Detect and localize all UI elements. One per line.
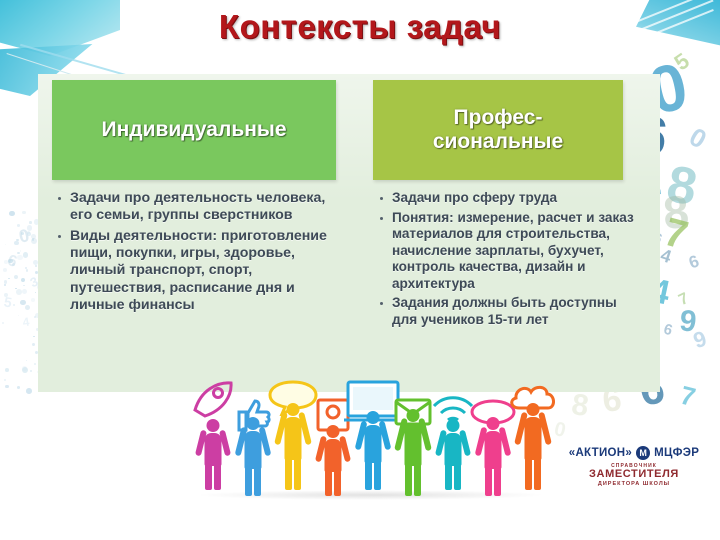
column-header-professional-label: Профес-сиональные (433, 106, 563, 154)
person-torso (205, 433, 222, 467)
person-head (207, 419, 220, 432)
background-fleck (4, 379, 6, 381)
column-individual: Задачи про деятельность человека, его се… (56, 190, 346, 317)
background-number: 4 (22, 316, 30, 329)
background-number: 0 (685, 123, 711, 153)
background-number: 5 (671, 49, 694, 74)
person-leg-left (445, 464, 452, 490)
person-figure (354, 380, 392, 490)
background-fleck (33, 336, 35, 338)
background-fleck (22, 289, 27, 294)
background-fleck (26, 269, 28, 271)
background-number: 5 (3, 294, 13, 309)
person-leg-left (205, 464, 212, 490)
person-leg-right (334, 470, 341, 496)
person-leg-right (534, 457, 541, 490)
person-figure (434, 380, 472, 490)
background-number: 7 (678, 382, 698, 411)
person-torso (405, 423, 422, 466)
background-fleck (4, 280, 8, 284)
background-fleck (5, 385, 8, 388)
person-figure (234, 386, 272, 496)
people-illustration (190, 378, 550, 498)
background-fleck (4, 260, 7, 263)
background-fleck (35, 265, 37, 267)
background-fleck (32, 343, 35, 346)
person-figure (194, 380, 232, 490)
background-fleck (5, 244, 6, 245)
background-number: 0 (552, 419, 567, 441)
background-fleck (21, 278, 25, 282)
background-fleck (18, 315, 19, 316)
person-leg-left (245, 467, 252, 496)
column-header-professional: Профес-сиональные (373, 80, 623, 180)
background-fleck (16, 289, 22, 295)
background-fleck (26, 360, 27, 361)
background-number: 9 (691, 328, 709, 353)
bullet-list-individual: Задачи про деятельность человека, его се… (56, 190, 346, 314)
person-figure (514, 380, 552, 490)
logo-brand-mcfer: МЦФЭР (654, 447, 699, 459)
person-torso (325, 439, 342, 473)
background-fleck (20, 250, 22, 252)
background-fleck (8, 259, 13, 264)
background-fleck (23, 285, 25, 287)
background-fleck (2, 322, 4, 324)
background-number: 6 (5, 253, 18, 271)
background-fleck (20, 302, 22, 304)
background-fleck (8, 278, 9, 279)
background-fleck (35, 292, 36, 293)
background-fleck (21, 232, 25, 236)
logo-subtitle-line2: ЗАМЕСТИТЕЛЯ (556, 469, 712, 481)
person-leg-right (214, 464, 221, 490)
background-number: 9 (678, 306, 698, 338)
person-leg-right (494, 467, 501, 496)
background-fleck (15, 288, 16, 289)
background-fleck (17, 386, 20, 389)
person-head (447, 419, 460, 432)
bullet-item: Понятия: измерение, расчет и заказ матер… (378, 210, 640, 293)
person-leg-right (374, 461, 381, 490)
publisher-logo: «АКТИОН» М МЦФЭР СПРАВОЧНИК ЗАМЕСТИТЕЛЯ … (556, 446, 712, 487)
background-number: 7 (677, 291, 692, 309)
background-fleck (3, 268, 7, 272)
person-figure (394, 386, 432, 496)
logo-mark-icon: М (636, 446, 650, 460)
column-header-individual-label: Индивидуальные (101, 118, 286, 142)
background-fleck (13, 304, 16, 307)
background-fleck (17, 255, 22, 260)
person-torso (365, 425, 382, 463)
background-fleck (26, 388, 32, 394)
background-number: 7 (660, 212, 692, 256)
background-fleck (22, 211, 25, 214)
bullet-item: Задачи про сферу труда (378, 190, 640, 207)
person-torso (525, 417, 542, 460)
person-leg-left (285, 457, 292, 490)
background-fleck (31, 298, 35, 302)
person-head (367, 411, 380, 424)
person-leg-left (405, 463, 412, 496)
background-fleck (34, 316, 36, 318)
background-fleck (34, 363, 36, 365)
background-fleck (27, 225, 32, 230)
background-number: 6 (662, 322, 674, 339)
background-fleck (31, 238, 37, 244)
background-fleck (30, 370, 32, 372)
person-leg-left (325, 470, 332, 496)
person-leg-right (254, 467, 261, 496)
person-head (327, 425, 340, 438)
person-leg-right (454, 464, 461, 490)
background-number: 4 (658, 246, 673, 266)
background-number: 8 (570, 390, 591, 422)
person-torso (285, 417, 302, 460)
background-fleck (4, 284, 5, 285)
bullet-list-professional: Задачи про сферу трудаПонятия: измерение… (378, 190, 640, 329)
slide-canvas: 530660288664676479667906354860 Контексты… (0, 0, 720, 540)
background-number: 8 (663, 158, 701, 214)
person-head (487, 417, 500, 430)
person-leg-left (485, 467, 492, 496)
person-head (247, 417, 260, 430)
background-fleck (22, 367, 28, 373)
background-fleck (16, 239, 19, 242)
page-title: Контексты задач (0, 8, 720, 46)
person-torso (485, 431, 502, 469)
person-leg-left (525, 457, 532, 490)
background-fleck (29, 221, 32, 224)
background-fleck (12, 263, 15, 266)
bullet-item: Виды деятельности: приготовление пищи, п… (56, 228, 346, 315)
background-number: 0 (17, 226, 31, 246)
background-fleck (27, 231, 30, 234)
background-fleck (17, 224, 20, 227)
background-fleck (9, 211, 14, 216)
background-fleck (4, 293, 8, 297)
background-fleck (14, 275, 18, 279)
person-torso (445, 433, 462, 467)
background-fleck (5, 368, 9, 372)
background-fleck (22, 366, 28, 372)
logo-brand-aktion: «АКТИОН» (569, 447, 632, 459)
background-fleck (25, 305, 30, 310)
person-leg-right (414, 463, 421, 496)
background-fleck (32, 238, 34, 240)
bullet-item: Задачи про деятельность человека, его се… (56, 190, 346, 225)
background-number: 8 (662, 188, 691, 236)
background-fleck (23, 252, 28, 257)
bullet-item: Задания должны быть доступны для ученико… (378, 295, 640, 328)
column-professional: Задачи про сферу трудаПонятия: измерение… (378, 190, 640, 332)
person-figure (274, 380, 312, 490)
person-leg-left (365, 461, 372, 490)
column-header-individual: Индивидуальные (52, 80, 336, 180)
background-fleck (17, 252, 19, 254)
background-fleck (31, 234, 36, 239)
background-fleck (25, 267, 27, 269)
person-leg-right (294, 457, 301, 490)
background-fleck (20, 300, 25, 305)
person-torso (245, 431, 262, 469)
background-number: 6 (687, 252, 702, 271)
logo-subtitle-line3: ДИРЕКТОРА ШКОЛЫ (556, 481, 712, 487)
background-fleck (27, 232, 31, 236)
background-fleck (14, 241, 18, 245)
